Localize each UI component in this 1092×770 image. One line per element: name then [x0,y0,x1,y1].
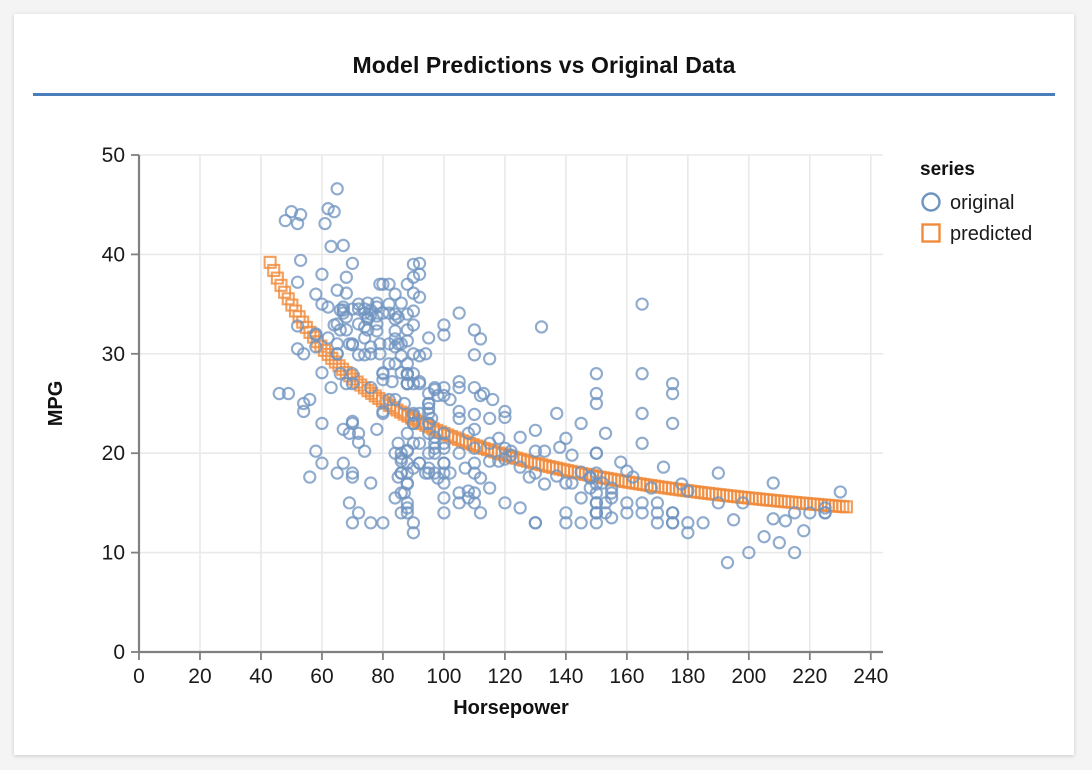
data-points [265,183,852,568]
axes: 0204060801001201401601802002202400102030… [45,144,888,719]
original-marker [402,428,413,439]
original-marker [658,462,669,473]
x-tick-label: 40 [249,665,272,688]
plot-svg: 0204060801001201401601802002202400102030… [0,0,1092,770]
original-marker [326,241,337,252]
original-marker [600,428,611,439]
original-marker [396,298,407,309]
original-marker [332,183,343,194]
x-tick-label: 20 [188,665,211,688]
predicted-marker [841,501,852,512]
original-marker [469,349,480,360]
original-marker [326,382,337,393]
x-axis-title: Horsepower [453,697,569,719]
original-marker [322,332,333,343]
original-marker [591,368,602,379]
original-marker [728,514,739,525]
x-tick-label: 0 [133,665,145,688]
legend: seriesoriginalpredicted [920,159,1032,245]
legend-circle-icon [923,194,940,211]
original-marker [554,442,565,453]
original-marker [454,307,465,318]
original-marker [768,513,779,524]
original-marker [484,413,495,424]
predicted-marker [837,501,848,512]
y-axis-title: MPG [45,381,67,427]
original-marker [484,482,495,493]
original-marker [835,486,846,497]
original-marker [344,497,355,508]
original-marker [292,277,303,288]
original-marker [338,240,349,251]
original-marker [637,368,648,379]
original-marker [365,477,376,488]
original-marker [423,332,434,343]
original-marker [371,424,382,435]
original-marker [295,255,306,266]
predicted-marker [279,287,290,298]
original-marker [667,418,678,429]
x-tick-label: 220 [792,665,827,688]
original-marker [722,557,733,568]
original-marker [475,390,486,401]
original-marker [469,324,480,335]
original-marker [304,471,315,482]
scatter-plot: 0204060801001201401601802002202400102030… [0,0,1092,770]
x-tick-label: 120 [487,665,522,688]
original-marker [515,432,526,443]
x-tick-label: 240 [853,665,888,688]
original-marker [347,517,358,528]
original-marker [576,517,587,528]
original-marker [469,409,480,420]
original-marker [698,517,709,528]
original-marker [310,446,321,457]
original-marker [758,531,769,542]
legend-item-label[interactable]: predicted [950,223,1032,245]
y-tick-label: 50 [102,144,125,167]
original-marker [484,353,495,364]
original-marker [536,321,547,332]
y-tick-label: 0 [113,641,125,664]
legend-square-icon [923,225,940,242]
original-marker [637,299,648,310]
predicted-marker [268,265,279,276]
original-marker [566,450,577,461]
legend-item-label[interactable]: original [950,192,1014,214]
original-marker [530,425,541,436]
original-marker [713,467,724,478]
original-marker [341,272,352,283]
original-marker [576,418,587,429]
predicted-marker [275,280,286,291]
original-marker [774,537,785,548]
original-marker [539,478,550,489]
x-tick-label: 180 [670,665,705,688]
original-marker [487,394,498,405]
y-tick-label: 40 [102,243,125,266]
original-marker [780,515,791,526]
original-marker [390,325,401,336]
original-marker [768,477,779,488]
gridlines [139,155,883,652]
y-tick-label: 30 [102,343,125,366]
predicted-marker [272,273,283,284]
original-marker [798,525,809,536]
x-tick-label: 140 [548,665,583,688]
original-marker [637,408,648,419]
original-marker [310,289,321,300]
original-marker [530,517,541,528]
original-marker [396,350,407,361]
original-marker [576,492,587,503]
x-tick-label: 160 [609,665,644,688]
original-marker [298,406,309,417]
original-marker [454,413,465,424]
original-marker [637,438,648,449]
x-tick-label: 200 [731,665,766,688]
x-tick-label: 100 [426,665,461,688]
original-marker [551,408,562,419]
legend-title: series [920,159,975,180]
x-tick-label: 80 [371,665,394,688]
original-marker [347,258,358,269]
predicted-marker [265,257,276,268]
y-tick-label: 10 [102,542,125,565]
y-tick-label: 20 [102,442,125,465]
original-marker [365,517,376,528]
predicted-marker [834,501,845,512]
original-marker [460,463,471,474]
x-tick-label: 60 [310,665,333,688]
original-marker [319,218,330,229]
original-marker [332,467,343,478]
original-marker [515,502,526,513]
